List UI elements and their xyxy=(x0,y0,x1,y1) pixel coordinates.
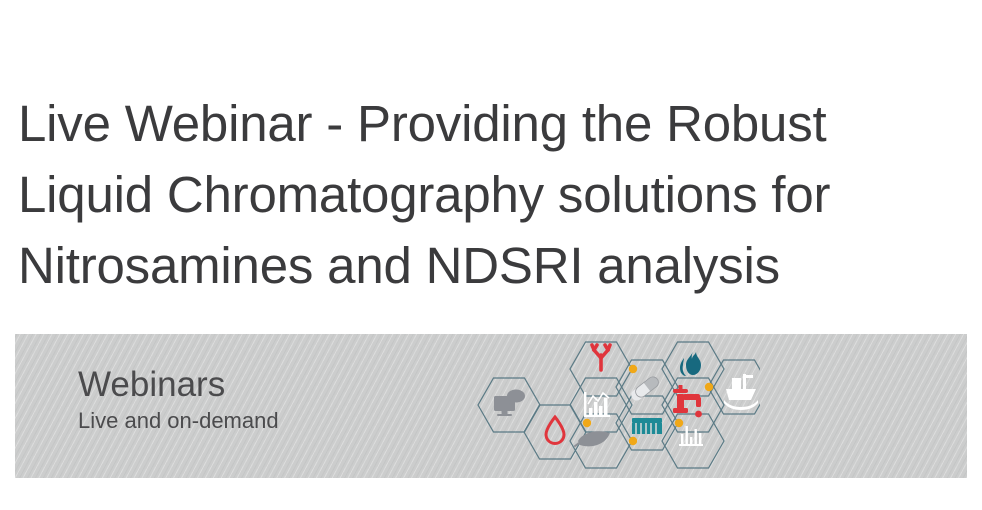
page-title-line-2: Liquid Chromatography solutions for xyxy=(18,159,968,230)
webinars-banner: Webinars Live and on-demand xyxy=(15,334,967,478)
column-comb-icon xyxy=(632,418,662,434)
page-title-line-1: Live Webinar - Providing the Robust xyxy=(18,88,968,159)
hexagon-icon-cluster xyxy=(470,334,760,478)
monitor-chat-icon xyxy=(494,390,525,417)
cargo-ship-icon xyxy=(724,374,758,410)
banner-text-block: Webinars Live and on-demand xyxy=(78,364,279,435)
flame-icon xyxy=(680,349,701,376)
droplet-icon xyxy=(546,417,564,444)
faucet-icon xyxy=(673,385,702,417)
page-title: Live Webinar - Providing the Robust Liqu… xyxy=(18,88,968,301)
banner-subtitle: Live and on-demand xyxy=(78,407,279,435)
capsule-pill-icon xyxy=(629,375,661,403)
page-title-line-3: Nitrosamines and NDSRI analysis xyxy=(18,230,968,301)
hexagon-cell-droplet xyxy=(524,405,586,459)
banner-title: Webinars xyxy=(78,364,279,406)
chromatogram-peaks-icon xyxy=(679,426,703,446)
leaf-icon xyxy=(575,431,610,446)
antibody-icon xyxy=(592,345,610,370)
